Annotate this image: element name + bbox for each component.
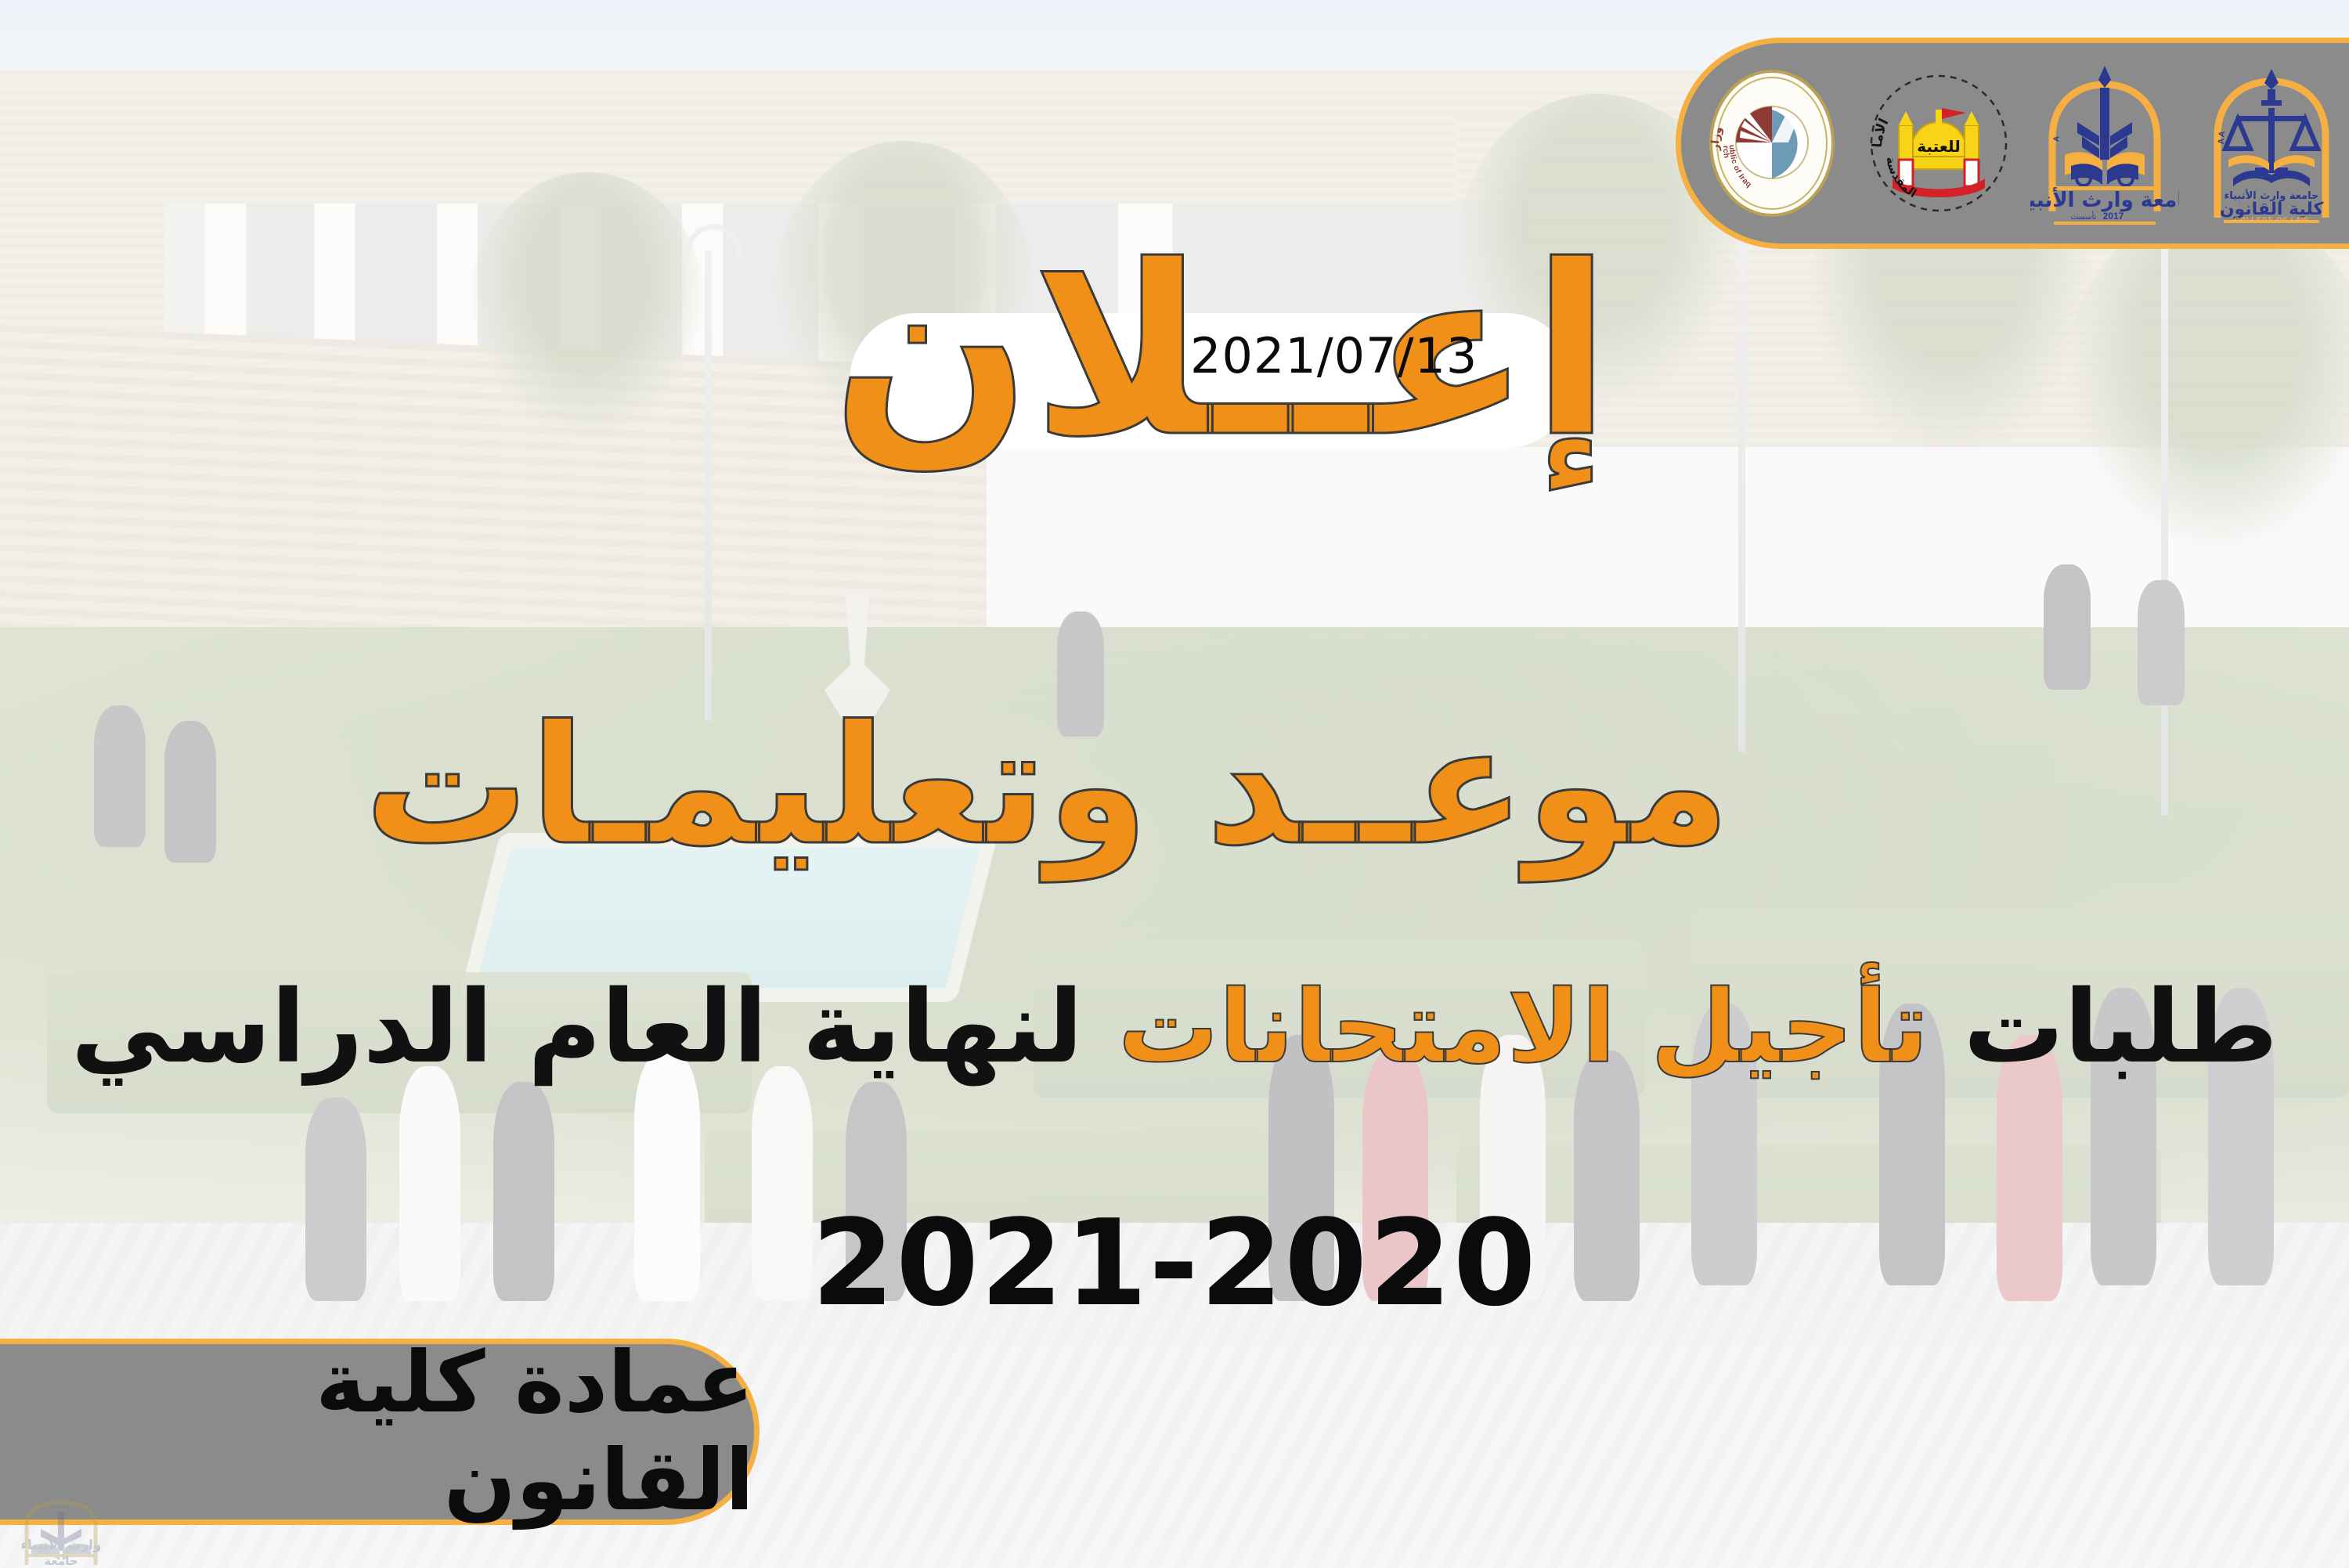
university-logo-established-label: تأسست (2071, 211, 2097, 222)
college-logo-english-arc: UNIVERSITY OF WARITH AL-ANBIYAA (2197, 61, 2228, 144)
al-abbas-holy-shrine-logo: للعتبة الامانة العامة المقدسة (1864, 61, 2013, 225)
university-watermark: وارث الأنبياء جامعة (14, 1498, 163, 1566)
announcement-subtitle: موعــد وتعليمـات (364, 689, 1730, 883)
announcement-date: 2021/07/13 (1190, 327, 1478, 384)
academic-year: 2021-2020 (0, 1194, 2349, 1332)
announcement-poster: جامعة وارث الأنبياء كلية القانون COLLEGE… (0, 0, 2349, 1568)
body-part-end-of-year: لنهاية العام الدراسي (71, 969, 1084, 1086)
university-warith-al-anbiyaa-logo: جامعة وارث الأنبياء 2017 تأسست UNIVERSIT… (2030, 61, 2179, 225)
ministry-of-higher-education-logo: وزارة التعليم العالي والبحث العلمي Minis… (1698, 61, 1846, 225)
institutional-logos-bar: جامعة وارث الأنبياء كلية القانون COLLEGE… (1676, 38, 2349, 249)
body-part-exam-postponement: تأجيل الامتحانات (1118, 969, 1929, 1086)
university-logo-english-arc: UNIVERSITY OF WARITH AL-ANBIYA A (2030, 61, 2062, 145)
shrine-logo-arabic-center: للعتبة (1917, 137, 1960, 156)
svg-text:جامعة: جامعة (44, 1554, 78, 1566)
announcement-body: طلبات تأجيل الامتحانات لنهاية العام الدر… (47, 967, 2302, 1089)
svg-text:وارث الأنبياء: وارث الأنبياء (20, 1537, 101, 1553)
shrine-logo-arabic-top: الامانة العامة (1864, 61, 1892, 148)
college-of-law-logo: جامعة وارث الأنبياء كلية القانون COLLEGE… (2197, 61, 2346, 225)
body-part-requests: طلبات (1964, 969, 2279, 1086)
university-logo-arabic-main: جامعة وارث الأنبياء (2030, 187, 2179, 212)
university-logo-established-year: 2017 (2103, 211, 2124, 222)
